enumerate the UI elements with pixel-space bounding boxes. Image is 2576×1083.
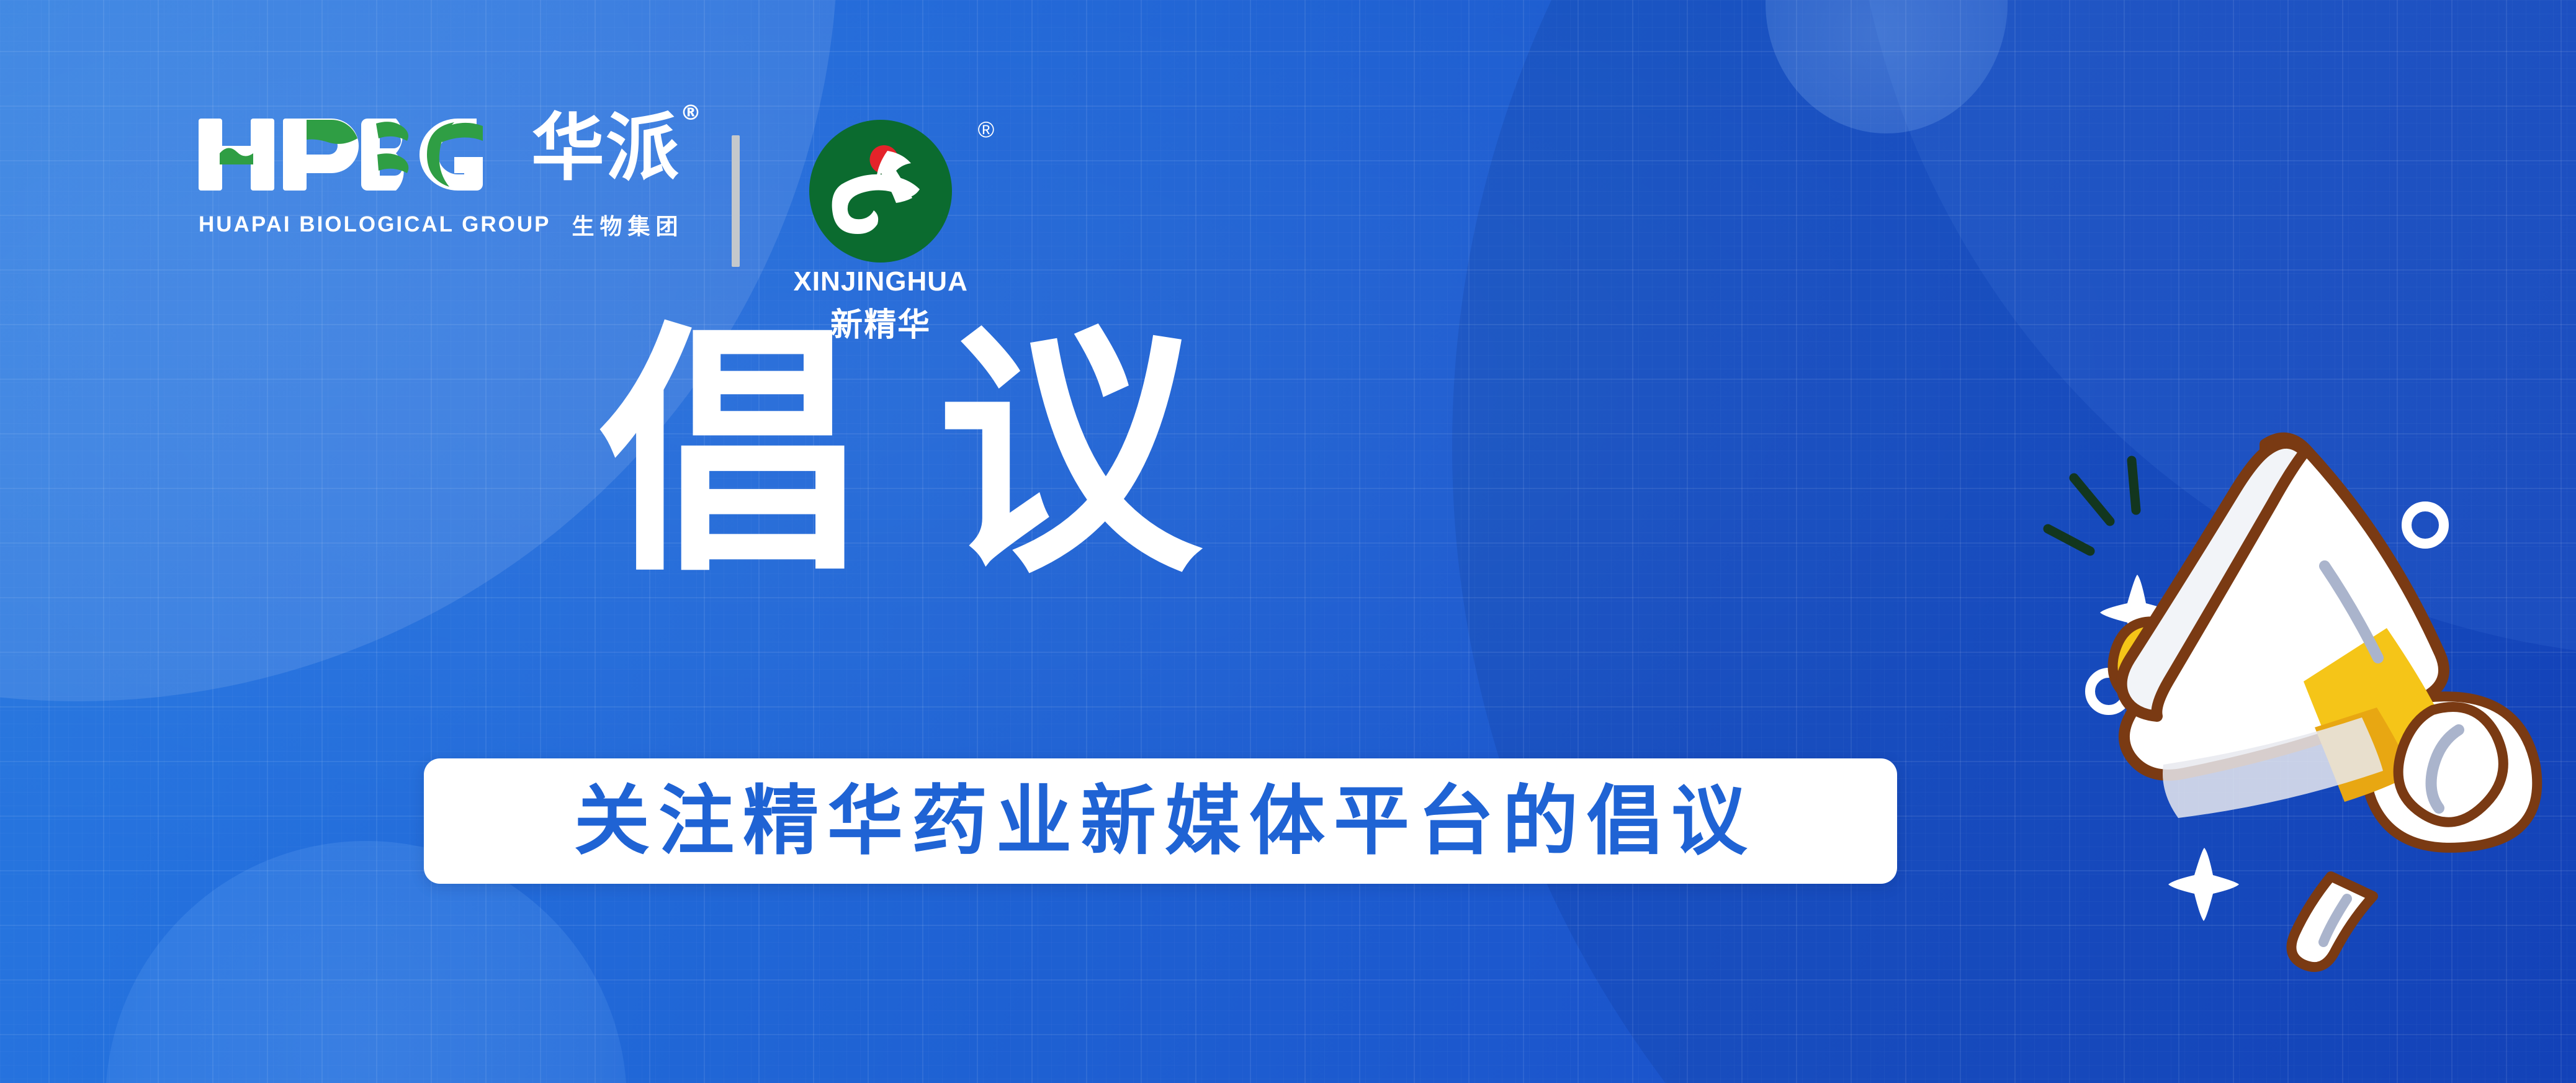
huapai-logo-top-row: 华派 ® [199, 115, 683, 199]
hero-headline: 倡议 [0, 323, 1800, 586]
registered-icon: ® [680, 102, 702, 124]
logo-divider [732, 135, 740, 267]
hpbg-wordmark-icon [199, 115, 509, 199]
registered-icon-secondary: ® [978, 119, 995, 141]
huapai-cn-wordmark: 华派 ® [531, 111, 680, 184]
xinjinghua-badge-icon: ® [809, 120, 952, 263]
megaphone-icon [2042, 385, 2575, 1005]
huapai-logo: 华派 ® HUAPAI BIOLOGICAL GROUP 生物集团 [199, 115, 683, 241]
speed-lines-icon [2048, 461, 2136, 551]
huapai-cn-text: 华派 [531, 105, 680, 191]
huapai-tagline-row: HUAPAI BIOLOGICAL GROUP 生物集团 [199, 209, 683, 241]
huapai-tagline-cn: 生物集团 [572, 209, 683, 241]
megaphone-grip-ring [2399, 707, 2503, 822]
subtitle-banner: 关注精华药业新媒体平台的倡议 [424, 758, 1897, 884]
xinjinghua-name-en: XINJINGHUA [793, 266, 967, 297]
huapai-tagline-en: HUAPAI BIOLOGICAL GROUP [199, 212, 550, 237]
poster-canvas: 华派 ® HUAPAI BIOLOGICAL GROUP 生物集团 ® XINJ [0, 0, 2576, 1083]
subtitle-text: 关注精华药业新媒体平台的倡议 [565, 783, 1756, 859]
